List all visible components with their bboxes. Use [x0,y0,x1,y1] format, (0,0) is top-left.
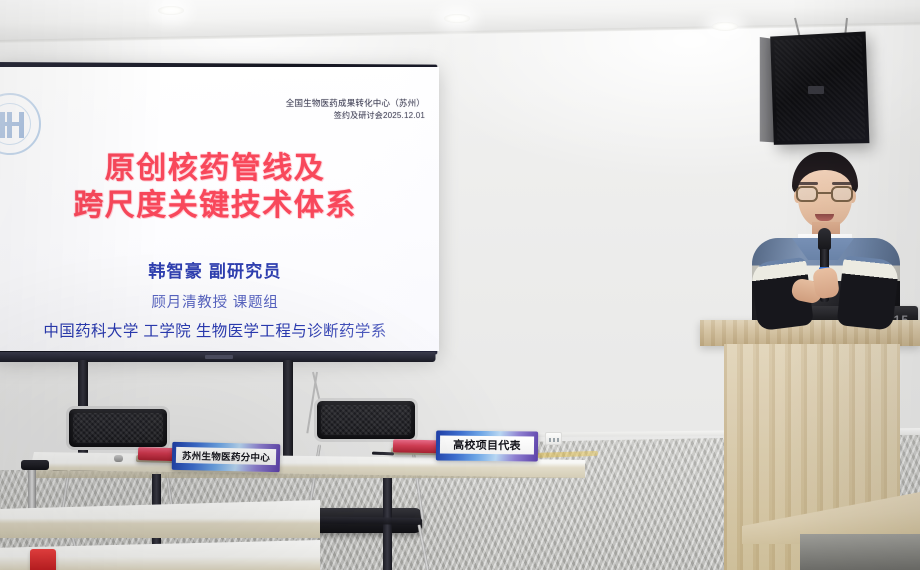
wall-power-outlet[interactable] [545,432,562,445]
speaker-brand-badge [808,86,824,94]
slide-header-line2: 签约及研讨会2025.12.01 [286,110,425,122]
slide-canvas: 全国生物医药成果转化中心（苏州） 签约及研讨会2025.12.01 原创核药管线… [0,67,439,351]
presenter-arm-right [836,255,899,330]
slide-title-line1: 原创核药管线及 [0,151,431,188]
presenter-hand-holding-mic [812,266,840,299]
presentation-display[interactable]: 全国生物医药成果转化中心（苏州） 签约及研讨会2025.12.01 原创核药管线… [0,62,446,357]
desk-object[interactable] [114,455,123,462]
red-desk-object[interactable] [30,549,56,570]
slide-title-line2: 跨尺度关键技术体系 [0,188,431,225]
nameplate-label: 苏州生物医药分中心 [176,447,276,465]
presenter-eyebrow [832,182,852,185]
presenter-eyebrow [798,182,818,185]
slide-title: 原创核药管线及 跨尺度关键技术体系 [0,151,431,224]
slide-header-line1: 全国生物医药成果转化中心（苏州） [286,97,425,110]
eyeglasses-icon [796,186,854,202]
table-clamp-head [21,460,49,470]
slide-affiliation: 中国药科大学 工学院 生物医学工程与诊断药学系 [0,319,431,341]
ceiling-downlight-icon [158,6,184,15]
university-seal-watermark-icon [0,93,41,155]
microphone-head [818,228,831,250]
presenter-person [736,152,912,330]
eyeglass-lens [831,186,853,202]
ceiling-downlight-icon [712,22,738,31]
nameplate-suzhou-center: 苏州生物医药分中心 [172,442,281,472]
nameplate-university-rep: 高校项目代表 [436,430,538,461]
eyeglass-lens [796,186,818,202]
display-stand-post [283,360,293,470]
conference-room-scene: 全国生物医药成果转化中心（苏州） 签约及研讨会2025.12.01 原创核药管线… [0,0,920,570]
podium-lower-panel [800,534,920,570]
chair-backrest [66,406,170,450]
slide-research-group: 顾月清教授 课题组 [0,291,431,312]
ceiling-downlight-icon [444,14,470,23]
eyeglass-bridge [818,192,831,194]
slide-presenter-name: 韩智豪 副研究员 [0,257,431,282]
chair-backrest [314,398,418,442]
display-brand-logo [205,355,233,359]
slide-header: 全国生物医药成果转化中心（苏州） 签约及研讨会2025.12.01 [286,97,425,123]
nameplate-label: 高校项目代表 [440,436,534,455]
table-clamp-post [28,466,36,514]
